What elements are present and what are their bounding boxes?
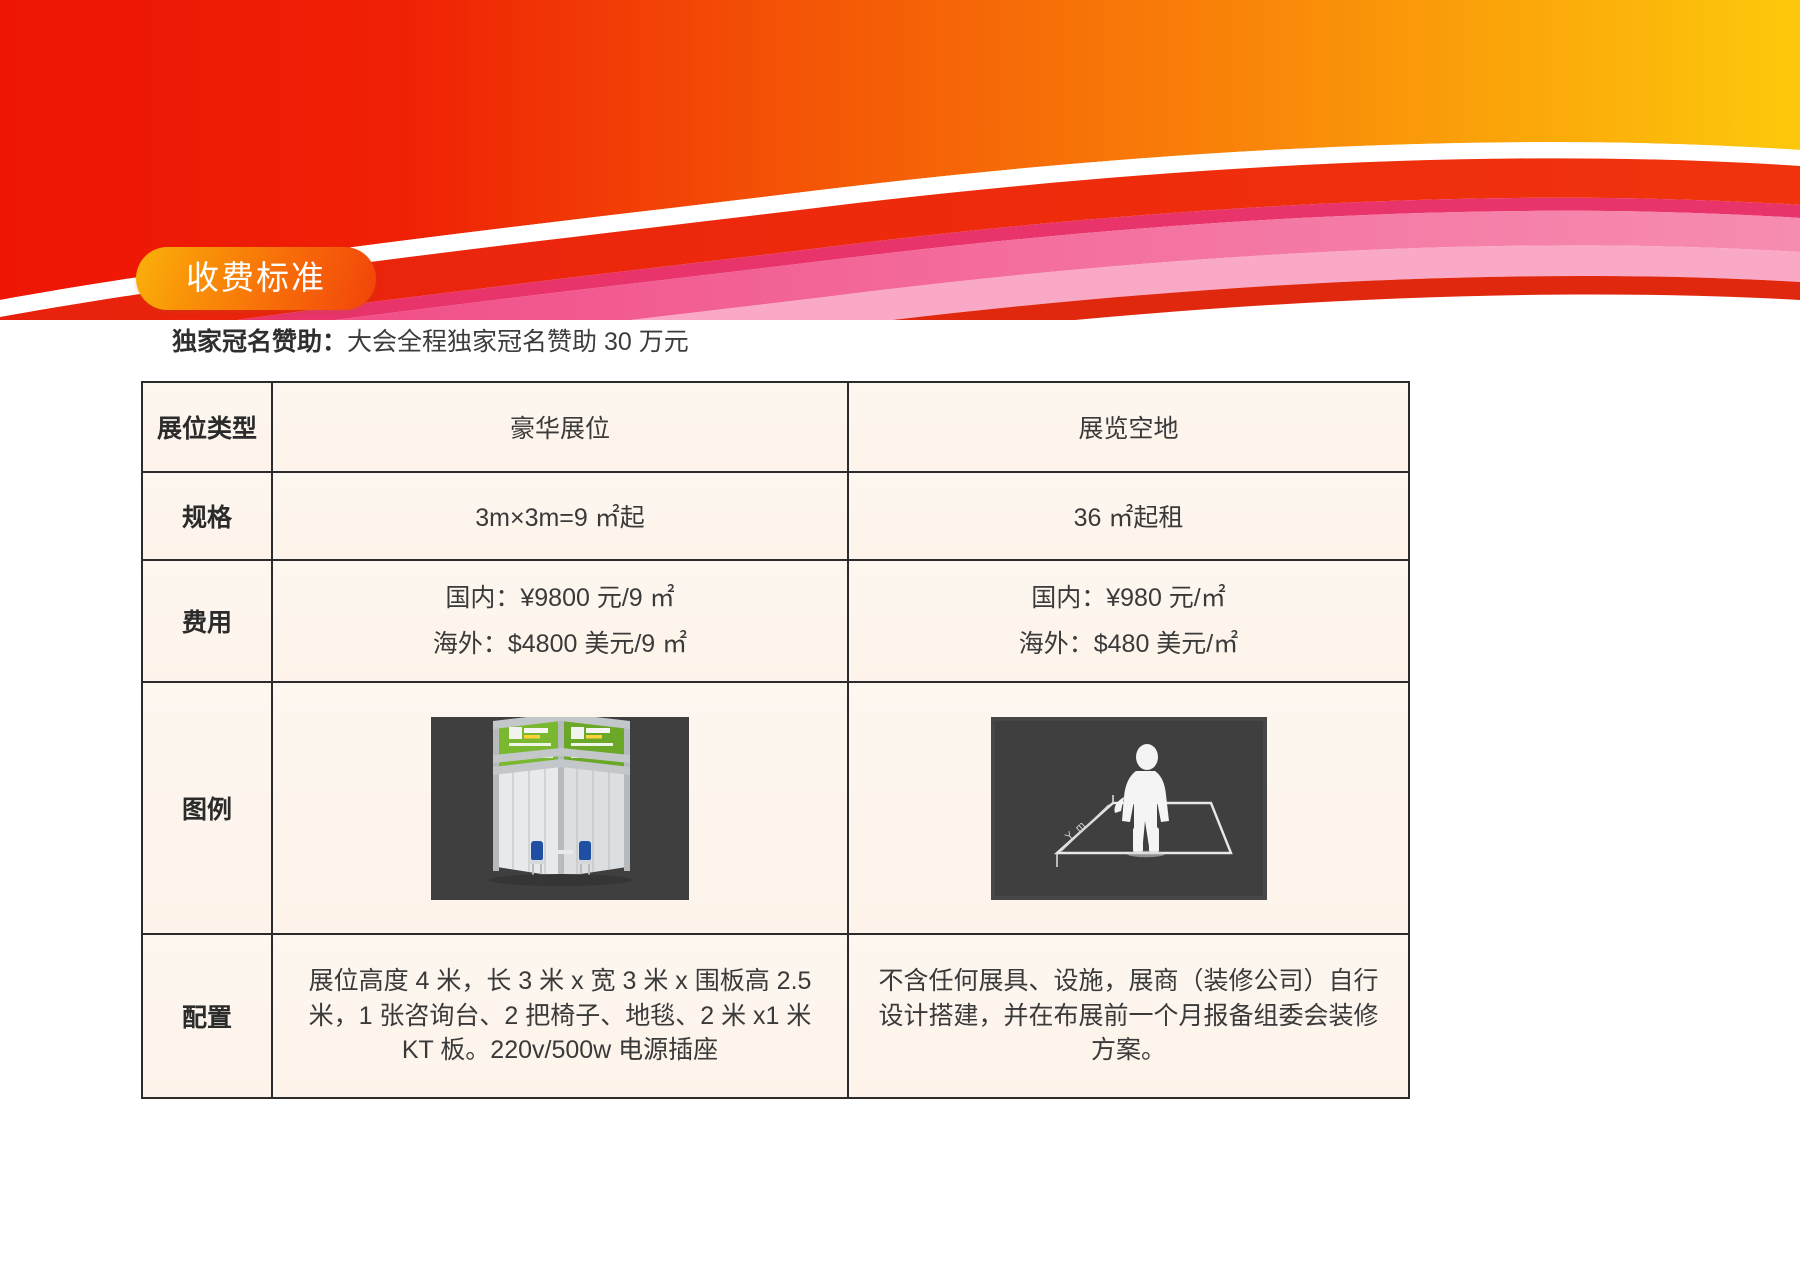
header-deluxe-booth: 豪华展位 [272,382,848,472]
illustration-deluxe-cell [272,682,848,934]
row-label-specification: 规格 [142,472,272,560]
row-label-configuration: 配置 [142,934,272,1098]
row-label-fee: 费用 [142,560,272,682]
configuration-deluxe-text: 展位高度 4 米，长 3 米 x 宽 3 米 x 围板高 2.5 米，1 张咨询… [272,934,848,1098]
spec-space-value: 36 ㎡起租 [848,472,1409,560]
section-title-badge: 收费标准 [136,247,376,310]
row-label-booth-type: 展位类型 [142,382,272,472]
fee-space-cell: 国内：¥980 元/㎡ 海外：$480 美元/㎡ [848,560,1409,682]
fee-space-overseas: 海外：$480 美元/㎡ [850,621,1407,667]
sponsorship-label: 独家冠名赞助： [172,328,347,356]
table-row-configuration: 配置 展位高度 4 米，长 3 米 x 宽 3 米 x 围板高 2.5 米，1 … [142,934,1409,1098]
section-title-text: 收费标准 [186,261,326,296]
row-label-illustration: 图例 [142,682,272,934]
illustration-space-cell: Y m [848,682,1409,934]
table-row-specification: 规格 3m×3m=9 ㎡起 36 ㎡起租 [142,472,1409,560]
table-row-fee: 费用 国内：¥9800 元/9 ㎡ 海外：$4800 美元/9 ㎡ 国内：¥98… [142,560,1409,682]
fee-deluxe-overseas: 海外：$4800 美元/9 ㎡ [274,621,846,667]
deluxe-booth-photo [431,717,689,900]
table-row-booth-type: 展位类型 豪华展位 展览空地 [142,382,1409,472]
fee-space-domestic: 国内：¥980 元/㎡ [850,575,1407,621]
table-row-illustration: 图例 [142,682,1409,934]
header-exhibition-space: 展览空地 [848,382,1409,472]
fee-deluxe-cell: 国内：¥9800 元/9 ㎡ 海外：$4800 美元/9 ㎡ [272,560,848,682]
spec-deluxe-value: 3m×3m=9 ㎡起 [272,472,848,560]
configuration-space-text: 不含任何展具、设施，展商（装修公司）自行设计搭建，并在布展前一个月报备组委会装修… [848,934,1409,1098]
empty-space-picture-wrap: Y m [849,683,1408,933]
fee-deluxe-domestic: 国内：¥9800 元/9 ㎡ [274,575,846,621]
fee-standard-table: 展位类型 豪华展位 展览空地 规格 3m×3m=9 ㎡起 36 ㎡起租 费用 国… [141,381,1410,1099]
sponsorship-note: 独家冠名赞助：大会全程独家冠名赞助 30 万元 [172,325,689,360]
sponsorship-value: 大会全程独家冠名赞助 30 万元 [347,328,689,356]
empty-space-diagram: Y m [991,717,1267,900]
deluxe-booth-picture-wrap [273,683,847,933]
